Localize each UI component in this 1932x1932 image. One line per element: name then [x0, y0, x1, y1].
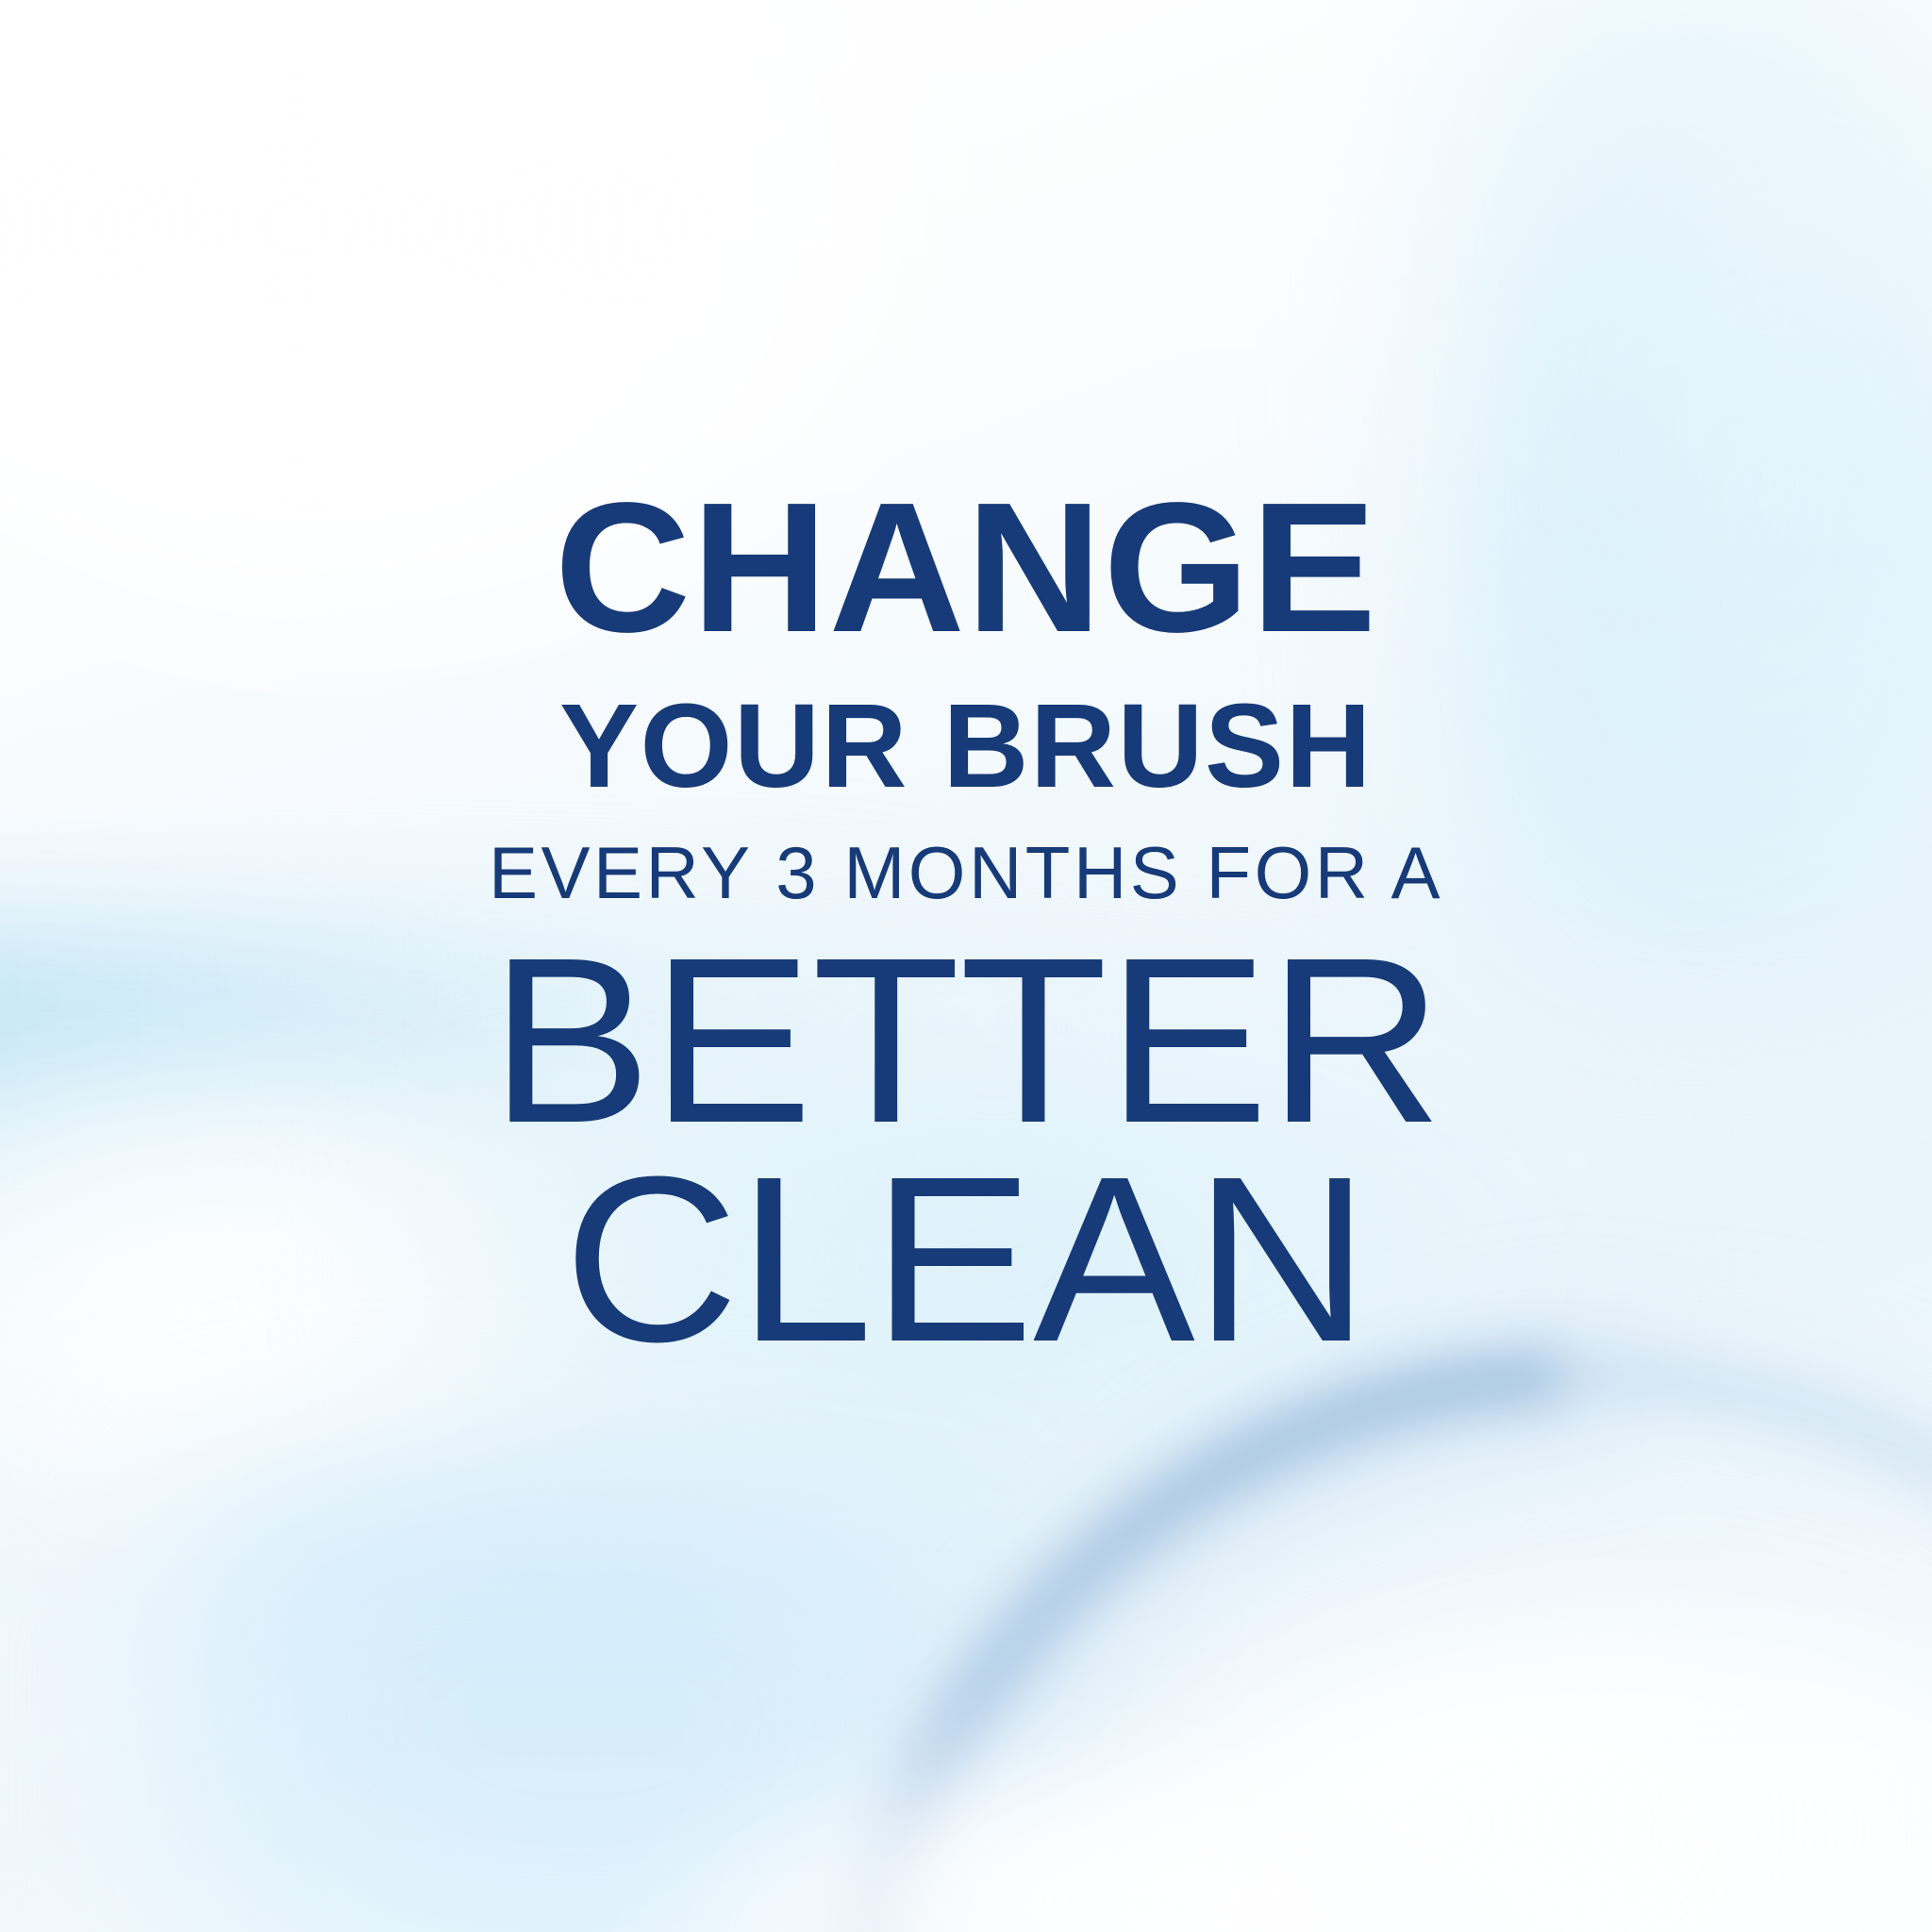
headline-line-every-3-months: EVERY 3 MONTHS FOR A: [0, 836, 1932, 909]
headline-line-your-brush: YOUR BRUSH: [0, 687, 1932, 806]
headline-block: CHANGE YOUR BRUSH EVERY 3 MONTHS FOR A B…: [0, 475, 1932, 1377]
poster-canvas: CHANGE YOUR BRUSH EVERY 3 MONTHS FOR A B…: [0, 0, 1932, 1932]
headline-line-better: BETTER: [0, 923, 1932, 1158]
headline-line-clean: CLEAN: [0, 1141, 1932, 1377]
headline-line-change: CHANGE: [0, 475, 1932, 660]
